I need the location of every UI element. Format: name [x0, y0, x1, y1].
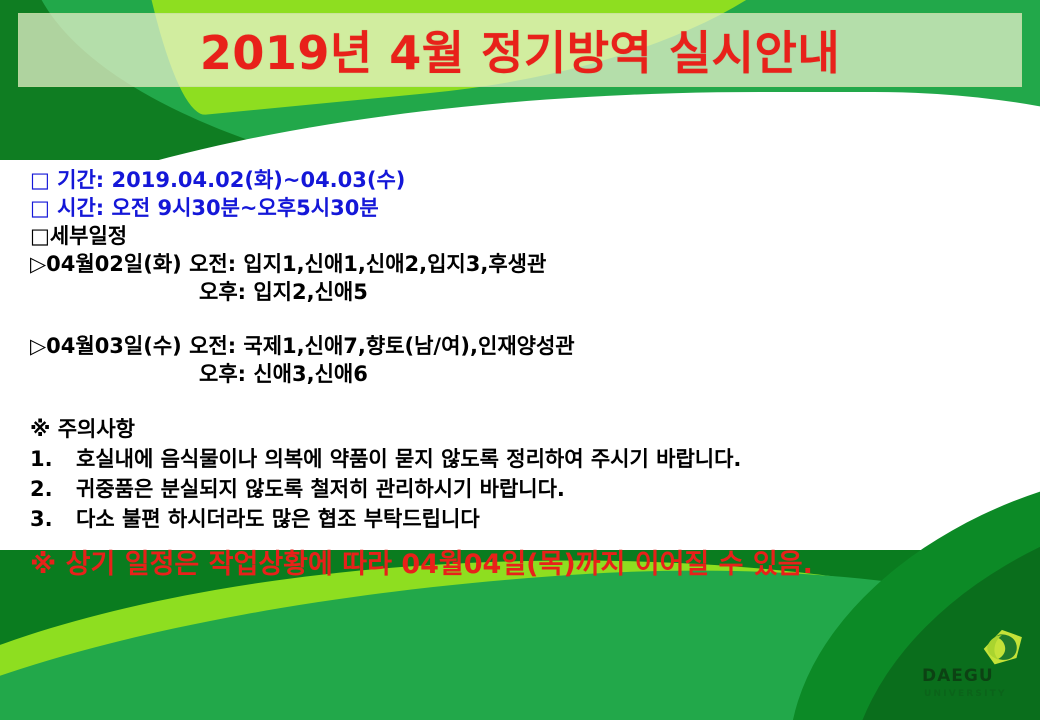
schedule-day1-morning: ▷04월02일(화) 오전: 입지1,신애1,신애2,입지3,후생관: [30, 250, 1025, 278]
schedule-day2-afternoon: 오후: 신애3,신애6: [30, 360, 1025, 388]
caution-item: 1. 호실내에 음식물이나 의복에 약품이 묻지 않도록 정리하여 주시기 바랍…: [30, 444, 1025, 474]
cautions-header: ※ 주의사항: [30, 414, 1025, 444]
caution-item-text: 다소 불편 하시더라도 많은 협조 부탁드립니다: [76, 504, 480, 534]
caution-gap: [30, 388, 1025, 414]
daegu-university-logo: DAEGU UNIVERSITY: [922, 628, 1026, 702]
schedule-day2-morning: ▷04월03일(수) 오전: 국제1,신애7,향토(남/여),인재양성관: [30, 332, 1025, 360]
extension-notice: ※ 상기 일정은 작업상황에 따라 04월04일(목)까지 이어질 수 있음.: [30, 548, 1025, 582]
university-emblem-icon: [978, 628, 1024, 668]
title-banner: 2019년 4월 정기방역 실시안내: [18, 13, 1022, 87]
page-title: 2019년 4월 정기방역 실시안내: [200, 17, 840, 83]
time-line: □ 시간: 오전 9시30분~오후5시30분: [30, 194, 1025, 222]
caution-item-index: 3.: [30, 504, 76, 534]
logo-wordmark: DAEGU: [922, 666, 994, 686]
caution-item-index: 2.: [30, 474, 76, 504]
period-line: □ 기간: 2019.04.02(화)~04.03(수): [30, 166, 1025, 194]
schedule-day1-afternoon: 오후: 입지2,신애5: [30, 278, 1025, 306]
notice-gap: [30, 534, 1025, 548]
content-body: □ 기간: 2019.04.02(화)~04.03(수) □ 시간: 오전 9시…: [30, 166, 1025, 582]
detail-schedule-header: □세부일정: [30, 222, 1025, 250]
slide-canvas: 2019년 4월 정기방역 실시안내 □ 기간: 2019.04.02(화)~0…: [0, 0, 1040, 720]
logo-subtitle: UNIVERSITY: [924, 689, 1007, 699]
caution-item-index: 1.: [30, 444, 76, 474]
caution-item-text: 귀중품은 분실되지 않도록 철저히 관리하시기 바랍니다.: [76, 474, 565, 504]
caution-item: 2. 귀중품은 분실되지 않도록 철저히 관리하시기 바랍니다.: [30, 474, 1025, 504]
caution-item-text: 호실내에 음식물이나 의복에 약품이 묻지 않도록 정리하여 주시기 바랍니다.: [76, 444, 741, 474]
schedule-gap: [30, 306, 1025, 332]
caution-item: 3. 다소 불편 하시더라도 많은 협조 부탁드립니다: [30, 504, 1025, 534]
